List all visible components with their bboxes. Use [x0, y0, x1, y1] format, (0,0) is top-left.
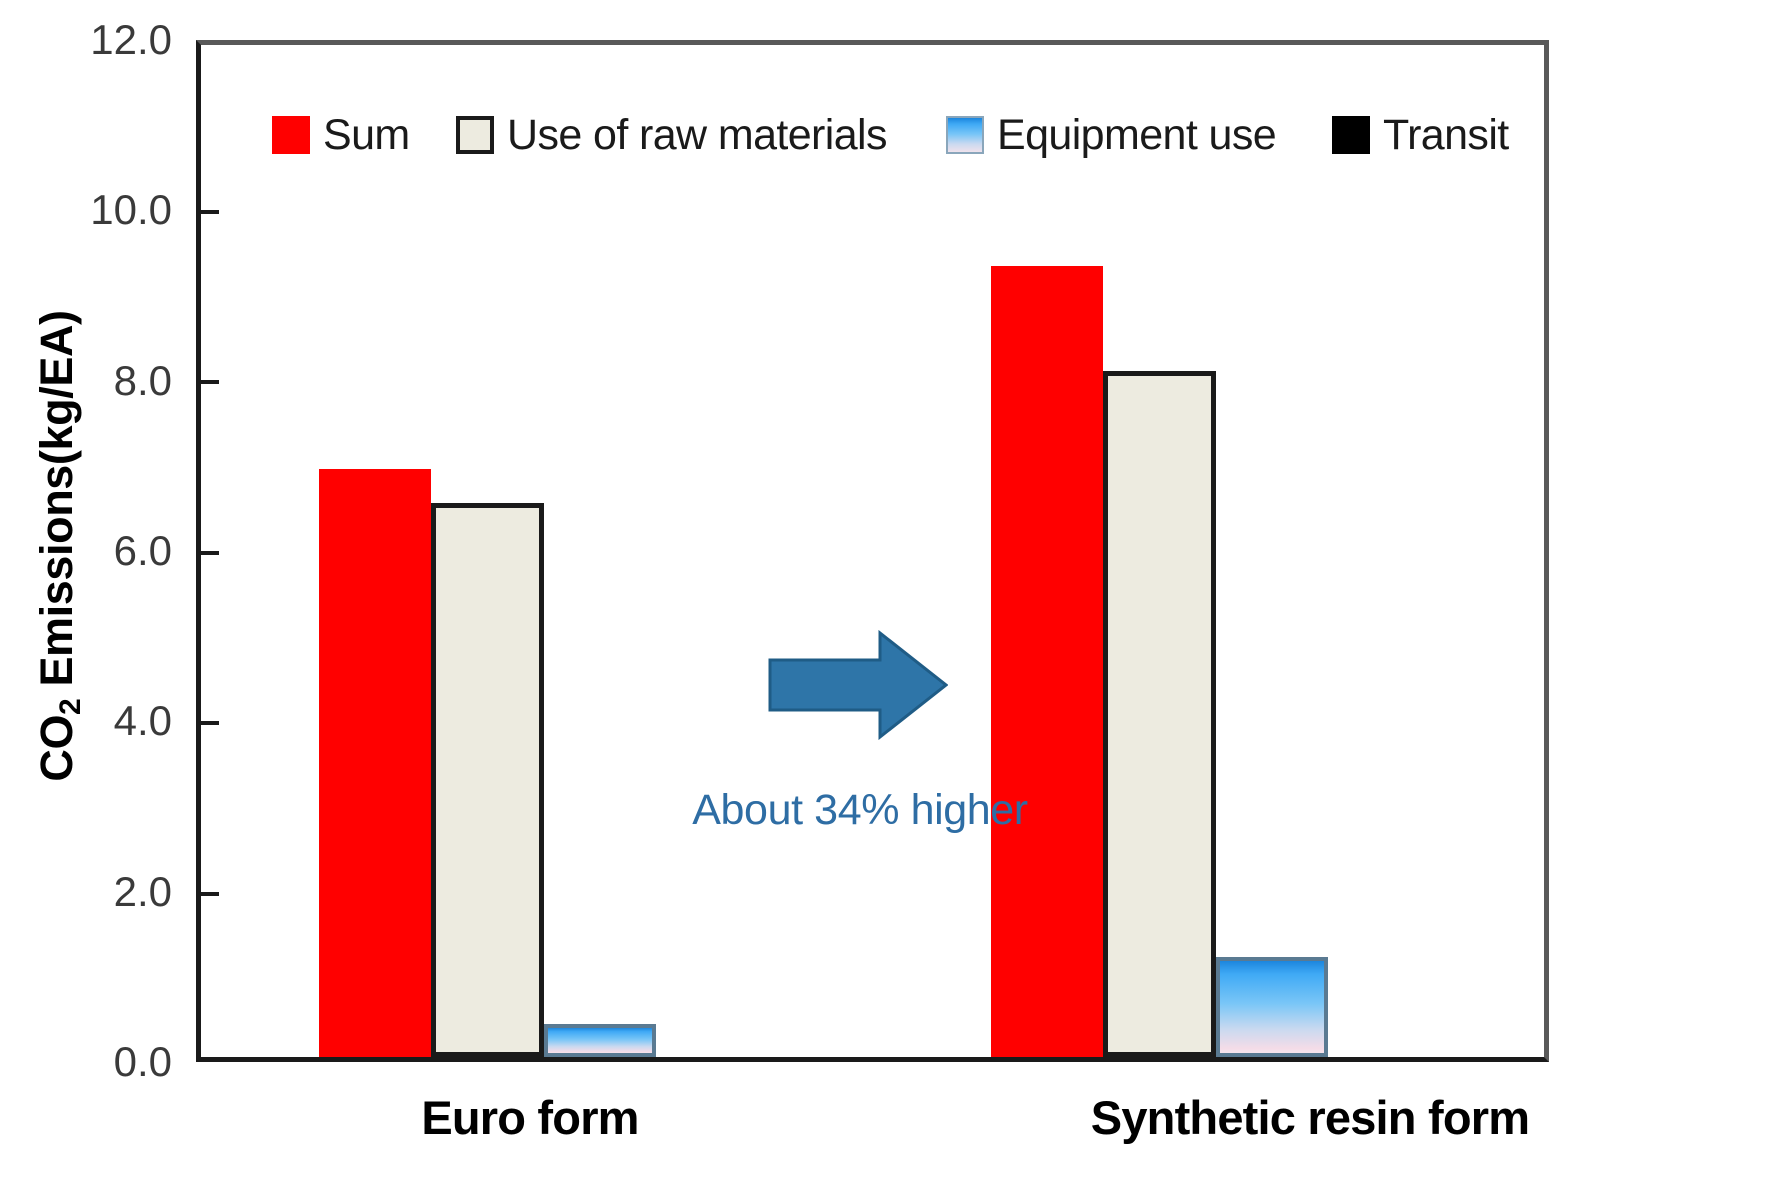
legend-item-raw-materials: Use of raw materials: [456, 103, 887, 167]
legend-label-equipment-use: Equipment use: [997, 111, 1276, 160]
raw-materials-swatch-icon: [456, 116, 494, 154]
legend-item-equipment-use: Equipment use: [946, 103, 1276, 167]
y-tick-mark-2: [201, 892, 219, 896]
y-tick-mark-8: [201, 380, 219, 384]
chart-legend: Sum Use of raw materials Equipment use T…: [196, 103, 1549, 167]
y-tick-label-2: 2.0: [32, 871, 172, 913]
equipment-use-swatch-icon: [946, 116, 984, 154]
y-tick-mark-6: [201, 551, 219, 555]
y-tick-mark-10: [201, 210, 219, 214]
bar-synthetic-resin-form-sum: [991, 266, 1103, 1057]
bar-euro-form-sum: [319, 469, 431, 1057]
legend-label-sum: Sum: [323, 111, 410, 160]
annotation-text: About 34% higher: [640, 786, 1080, 835]
plot-area: [196, 40, 1549, 1062]
bar-euro-form-equipment-use: [544, 1024, 656, 1057]
y-tick-label-6: 6.0: [32, 530, 172, 572]
y-tick-label-4: 4.0: [32, 700, 172, 742]
y-tick-label-10: 10.0: [32, 189, 172, 231]
chart-figure: CO2 Emissions(kg/EA) 12.0 10.0 8.0 6.0 4…: [0, 0, 1770, 1183]
bar-synthetic-resin-form-raw-materials: [1103, 371, 1216, 1057]
y-tick-mark-4: [201, 721, 219, 725]
y-tick-label-0: 0.0: [32, 1041, 172, 1083]
legend-label-transit: Transit: [1383, 111, 1509, 160]
bar-synthetic-resin-form-equipment-use: [1216, 957, 1328, 1057]
x-category-label-synthetic-resin-form: Synthetic resin form: [1000, 1090, 1620, 1145]
y-tick-label-12: 12.0: [32, 19, 172, 61]
transit-swatch-icon: [1332, 116, 1370, 154]
sum-swatch-icon: [272, 116, 310, 154]
bar-euro-form-raw-materials: [431, 503, 544, 1057]
legend-item-transit: Transit: [1332, 103, 1509, 167]
x-category-label-euro-form: Euro form: [320, 1090, 740, 1145]
y-tick-label-8: 8.0: [32, 360, 172, 402]
legend-label-raw-materials: Use of raw materials: [507, 111, 887, 160]
legend-item-sum: Sum: [272, 103, 410, 167]
right-arrow-icon: [768, 630, 948, 745]
